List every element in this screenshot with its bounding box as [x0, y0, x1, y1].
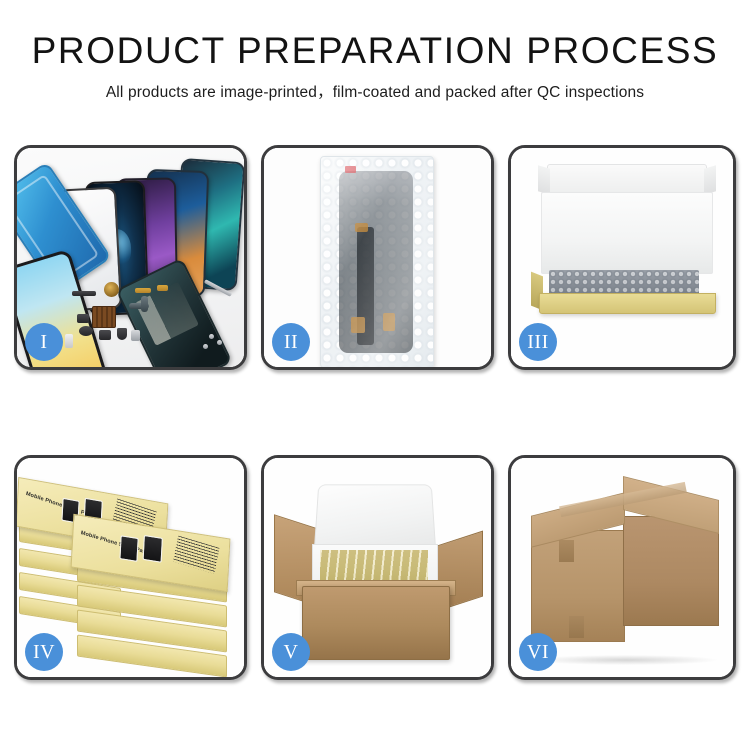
- step-panel-1: I: [14, 145, 247, 370]
- flex-cable-part: [141, 296, 148, 312]
- speaker-coil-part: [104, 282, 119, 297]
- page-title: PRODUCT PREPARATION PROCESS: [0, 30, 750, 71]
- wrapped-connector: [383, 313, 395, 331]
- camera-module-part: [79, 326, 93, 336]
- carton-shadow: [535, 655, 717, 665]
- step-badge-3: III: [519, 323, 557, 361]
- chip-grid-part: [92, 306, 116, 328]
- yellow-box-front: [539, 293, 716, 314]
- carton-face-right: [623, 516, 719, 626]
- step-panel-2: II: [261, 145, 494, 370]
- screw-part: [203, 344, 208, 349]
- step-panel-5: V: [261, 455, 494, 680]
- step-panel-6: VI: [508, 455, 736, 680]
- screw-part: [217, 340, 222, 345]
- wrapped-connector: [355, 223, 368, 232]
- connector-part: [65, 334, 73, 348]
- box-phone-thumbnail: [119, 535, 138, 562]
- step-badge-5: V: [272, 633, 310, 671]
- page-subtitle: All products are image-printed，film-coat…: [0, 80, 750, 102]
- step-panel-3: III: [508, 145, 736, 370]
- screw-part: [209, 334, 214, 339]
- process-steps-grid: I II III: [14, 145, 736, 680]
- metal-bracket-part: [131, 330, 140, 341]
- carton-body: [302, 586, 450, 660]
- step-badge-6: VI: [519, 633, 557, 671]
- gold-contact-part: [157, 285, 168, 291]
- wrapped-connector: [351, 317, 365, 333]
- vibration-motor-part: [77, 314, 89, 323]
- speaker-part: [117, 328, 127, 340]
- step-badge-4: IV: [25, 633, 63, 671]
- qc-sticker: [345, 166, 356, 173]
- flex-strip-part: [72, 291, 96, 296]
- box-spec-lines: [173, 536, 219, 574]
- step-badge-2: II: [272, 323, 310, 361]
- carton-tab: [559, 540, 574, 562]
- gold-contact-part: [135, 288, 151, 293]
- step-panel-4: Mobile Phone Spare Parts Mobile Phone Sp…: [14, 455, 247, 680]
- carton-tab: [569, 616, 584, 638]
- button-part: [99, 330, 111, 340]
- page-header: PRODUCT PREPARATION PROCESS All products…: [0, 0, 750, 102]
- box-phone-thumbnail: [143, 535, 163, 563]
- bubble-wrap-bag: [320, 156, 434, 367]
- box-label-text: Mobile Phone Spare Parts: [80, 530, 150, 556]
- step-badge-1: I: [25, 323, 63, 361]
- foam-padding: [541, 192, 713, 274]
